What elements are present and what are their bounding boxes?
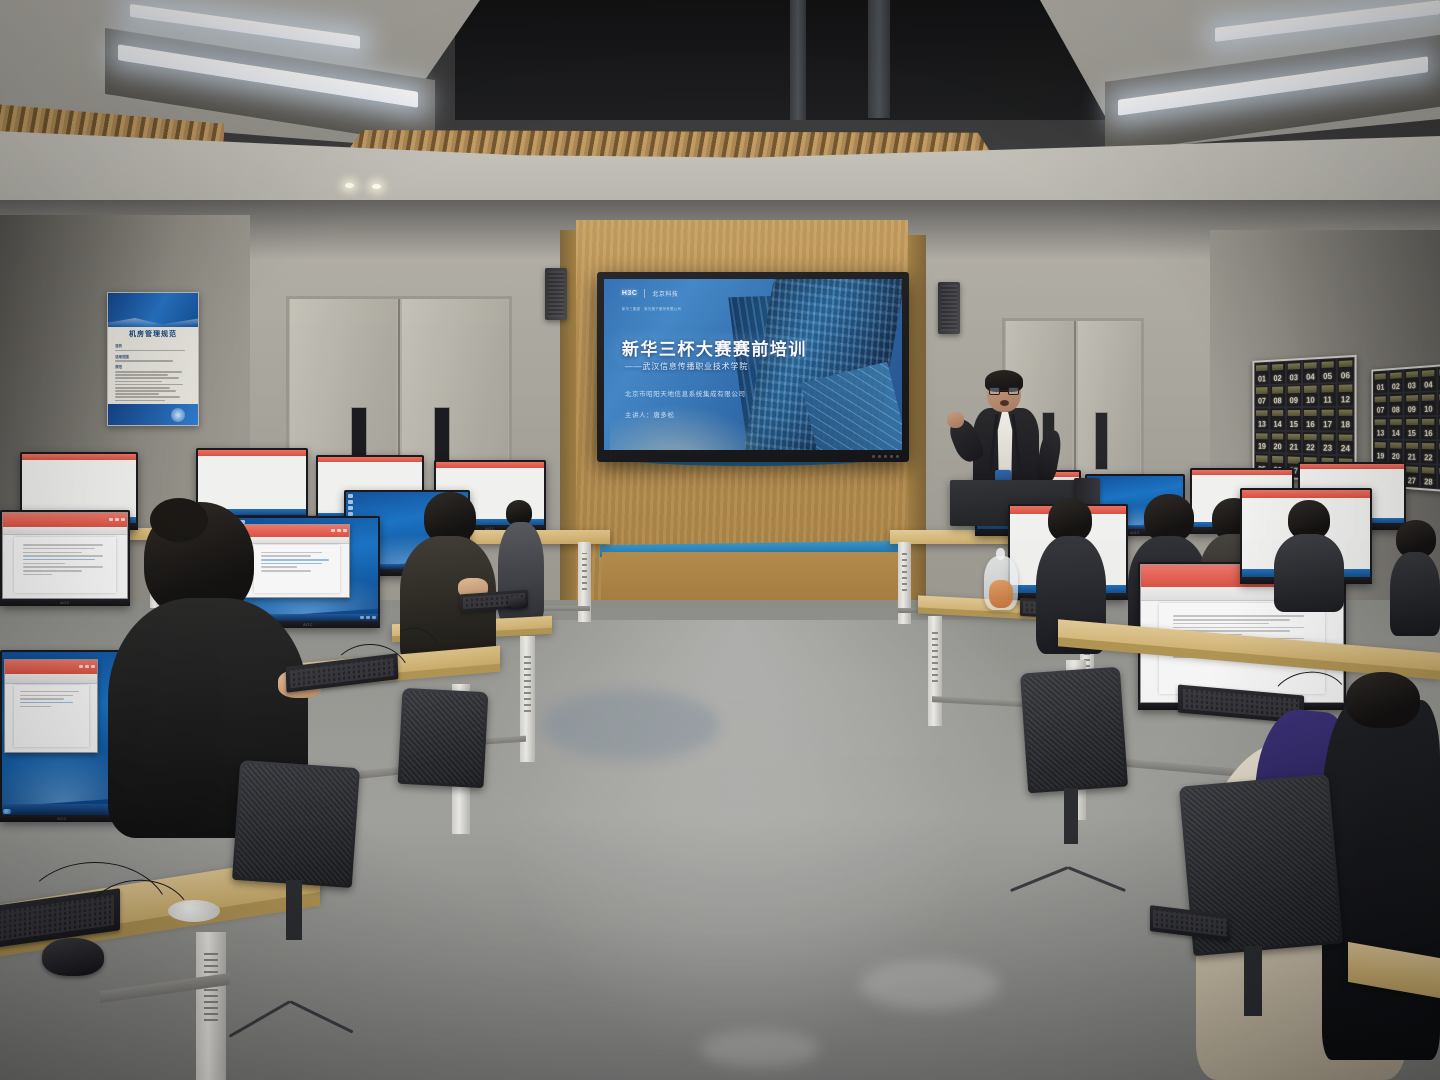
board-cell: 07 — [1373, 393, 1388, 416]
chair-post — [1244, 946, 1262, 1016]
ceiling-beam-2 — [868, 0, 890, 118]
floor-glare-2 — [860, 960, 1000, 1010]
board-cell: 21 — [1286, 431, 1302, 455]
board-cell: 04 — [1302, 359, 1319, 384]
board-cell: 08 — [1270, 384, 1286, 407]
desktop-icons[interactable] — [348, 494, 353, 516]
window-titlebar[interactable] — [5, 660, 97, 675]
poster-body: 目的 适用范围 规范 — [115, 341, 191, 402]
taskbar[interactable] — [2, 804, 122, 815]
slide-speaker: 主讲人：唐多松 — [625, 409, 675, 419]
slide-logo-secondary: 北京科技 — [652, 289, 678, 298]
desk-leg-foreground — [196, 932, 226, 1080]
chair-post — [1064, 788, 1078, 844]
board-cell: 14 — [1270, 407, 1286, 430]
document-page — [14, 685, 89, 746]
slide-logo-primary: H3C — [622, 290, 638, 297]
document-window[interactable] — [4, 659, 98, 754]
chair-right-front[interactable] — [1322, 700, 1440, 1060]
board-cell: 23 — [1319, 431, 1336, 456]
poster-section-2: 适用范围 — [115, 354, 191, 359]
door-vision-panel — [1095, 412, 1108, 470]
board-cell: 22 — [1302, 431, 1319, 455]
desk-leg — [520, 636, 535, 762]
board-cell: 11 — [1319, 382, 1336, 407]
board-cell: 17 — [1319, 407, 1336, 431]
board-cell: 20 — [1270, 430, 1286, 453]
chair-left-1[interactable] — [232, 760, 360, 888]
board-cell: 05 — [1319, 358, 1336, 383]
plastic-bag — [984, 556, 1018, 610]
floor-glare-3 — [700, 1030, 820, 1068]
board-cell: 09 — [1286, 384, 1302, 408]
mouse-left-mid[interactable] — [508, 596, 526, 608]
poster-section-3: 规范 — [115, 364, 191, 369]
board-cell: 19 — [1254, 430, 1269, 453]
classroom-scene: 机房管理规范 目的 适用范围 规范 01 02 03 04 05 06 07 0… — [0, 0, 1440, 1080]
board-cell: 18 — [1336, 407, 1354, 432]
floor-glare-1 — [540, 690, 720, 760]
board-cell: 02 — [1270, 361, 1286, 385]
monitor-left-front-2[interactable]: AOC — [0, 650, 124, 822]
window-ribbon[interactable] — [5, 674, 97, 683]
chair-right-2[interactable] — [1020, 667, 1128, 794]
board-cell: 02 — [1388, 369, 1404, 393]
slide-subtitle: ——武汉信息传播职业技术学院 — [625, 361, 748, 372]
speaker-right — [938, 282, 960, 334]
monitor-screen — [2, 652, 122, 815]
slide-logo: H3C 北京科技 — [622, 289, 679, 298]
board-cell: 04 — [1420, 367, 1437, 392]
board-cell: 13 — [1373, 416, 1388, 439]
board-cell: 13 — [1254, 408, 1269, 431]
start-button-icon[interactable] — [3, 809, 11, 814]
board-cell: 12 — [1336, 382, 1354, 407]
slide-logo-subtext: 新华三集团 · 紫光旗下股份有限公司 — [622, 306, 681, 311]
chair-left-2[interactable] — [398, 688, 489, 788]
slide-organization: 北京市昭阳天地信息系统集成有限公司 — [625, 388, 746, 398]
student-right-back-1 — [1274, 500, 1344, 600]
presenter-mouth — [1000, 400, 1009, 406]
downlight-2 — [372, 184, 381, 189]
monitor-brand-strip: AOC — [0, 815, 124, 822]
presentation-slide: H3C 北京科技 新华三集团 · 紫光旗下股份有限公司 新华三杯大赛赛前培训 —… — [604, 279, 902, 450]
board-cell: 16 — [1302, 407, 1319, 431]
board-cell: 22 — [1420, 440, 1437, 465]
board-cell: 15 — [1404, 416, 1420, 440]
speaker-left — [545, 268, 567, 320]
poster-header-band — [108, 293, 198, 327]
board-cell: 06 — [1336, 357, 1354, 382]
ceiling-beam-1 — [790, 0, 806, 120]
board-cell: 28 — [1420, 464, 1437, 489]
presenter-fist — [947, 412, 964, 428]
board-cell: 09 — [1404, 392, 1420, 416]
board-cell: 10 — [1420, 391, 1437, 416]
board-cell: 16 — [1420, 416, 1437, 440]
mouse-foreground[interactable] — [42, 938, 104, 976]
poster-section-1: 目的 — [115, 343, 191, 348]
board-cell: 07 — [1254, 385, 1269, 408]
board-cell: 01 — [1254, 362, 1269, 385]
board-cell: 27 — [1404, 463, 1420, 488]
board-cell: 15 — [1286, 407, 1302, 431]
poster-footer-band — [108, 404, 198, 425]
ceiling — [0, 0, 1440, 215]
chair-post — [286, 880, 302, 940]
student-right-back-2 — [1390, 520, 1440, 630]
board-cell: 21 — [1404, 440, 1420, 464]
wall-display[interactable]: H3C 北京科技 新华三集团 · 紫光旗下股份有限公司 新华三杯大赛赛前培训 —… — [597, 272, 909, 462]
glasses-icon — [989, 387, 1019, 395]
display-bezel-controls — [597, 450, 909, 462]
slide-title: 新华三杯大赛赛前培训 — [622, 335, 807, 360]
wall-poster: 机房管理规范 目的 适用范围 规范 — [107, 292, 199, 426]
board-cell: 19 — [1373, 439, 1388, 462]
board-cell: 01 — [1373, 370, 1388, 394]
document-page — [14, 537, 116, 593]
board-cell: 20 — [1388, 440, 1404, 464]
poster-title: 机房管理规范 — [108, 329, 198, 339]
stage-skirt-panel — [602, 552, 898, 604]
board-cell: 08 — [1388, 393, 1404, 417]
board-cell: 03 — [1404, 368, 1420, 393]
downlight-1 — [345, 183, 354, 188]
desk-leg — [928, 616, 942, 726]
board-cell: 10 — [1302, 383, 1319, 407]
bag-knot — [996, 548, 1005, 560]
board-cell: 24 — [1336, 431, 1354, 456]
board-cell: 14 — [1388, 416, 1404, 440]
board-cell: 03 — [1286, 360, 1302, 384]
